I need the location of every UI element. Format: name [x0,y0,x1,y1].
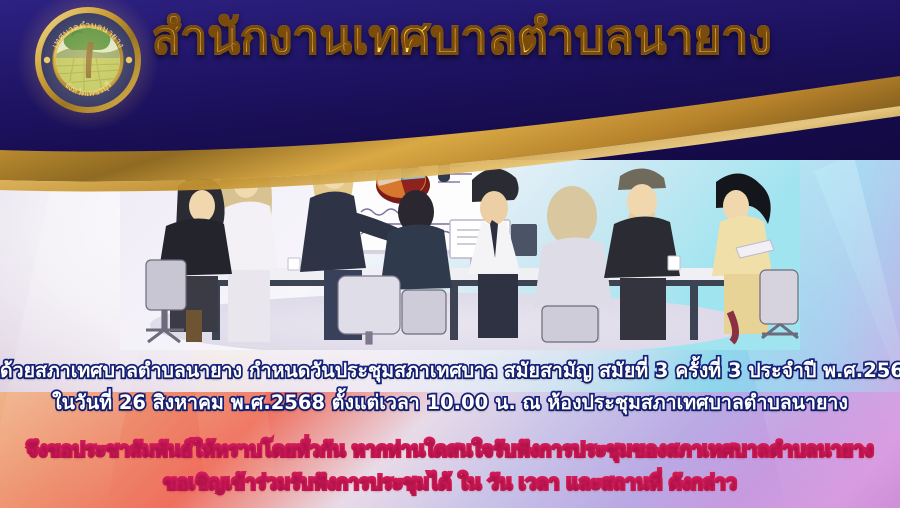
office-chair [146,260,186,342]
office-chair [338,276,400,344]
coffee-cup [668,256,680,270]
announcement-line-2: ในวันที่ 26 สิงหาคม พ.ศ.2568 ตั้งแต่เวลา… [0,388,900,418]
municipality-seal-logo: เทศบาลตำบลนายาง จังหวัดเพชรบุรี [34,6,142,114]
announcement-line-4: ขอเชิญเข้าร่วมรับฟังการประชุมได้ ใน วัน … [0,467,900,498]
coffee-cup [288,258,300,270]
logo-glow [18,0,158,130]
announcement-poster: เทศบาลตำบลนายาง จังหวัดเพชรบุรี สำนักงาน… [0,0,900,508]
office-chair [402,290,446,334]
announcement-line-3: จึงขอประชาสัมพันธ์ให้ทราบโดยทั่วกัน หากท… [0,434,900,465]
office-chair [542,306,598,342]
announcement-line-1: ด้วยสภาเทศบาลตำบลนายาง กำหนดวันประชุมสภา… [0,356,900,386]
page-title: สำนักงานเทศบาลตำบลนายาง [152,8,792,70]
